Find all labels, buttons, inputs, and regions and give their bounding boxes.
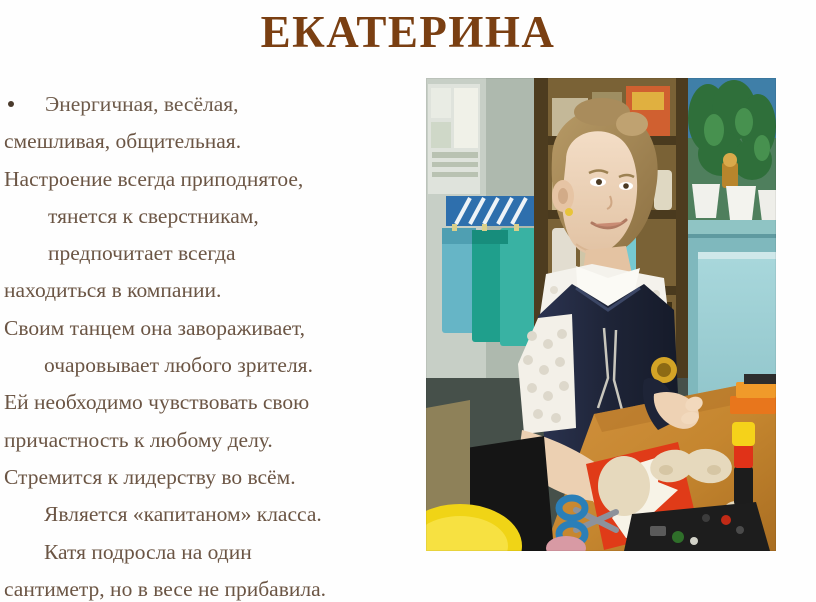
text-line: Стремится к лидерству во всём. [0,459,422,496]
text-line: смешливая, общительная. [0,123,422,160]
text-line: очаровывает любого зрителя. [0,347,422,384]
text-line: причастность к любому делу. [0,422,422,459]
text-line: Энергичная, весёлая, [0,86,239,123]
text-line: предпочитает всегда [0,235,422,272]
text-line: Настроение всегда приподнятое, [0,161,422,198]
striped-rack [446,196,536,226]
text-line: Ей необходимо чувствовать свою [0,384,422,421]
student-photo [426,78,776,551]
presentation-slide: ЕКАТЕРИНА Энергичная, весёлая, смешливая… [0,0,816,602]
text-line: Катя подросла на один [0,534,422,571]
page-title: ЕКАТЕРИНА [0,6,816,58]
glue-stick [732,422,755,506]
text-line: сантиметр, но в весе не прибавила. [0,571,422,602]
body-text-block: Энергичная, весёлая, смешливая, общитель… [0,86,422,602]
text-line: тянется к сверстникам, [0,198,422,235]
bullet-dot-icon [8,101,14,107]
text-line: Является «капитаном» класса. [0,496,422,533]
bullet-list-item: Энергичная, весёлая, [0,86,422,123]
text-line: находиться в компании. [0,272,422,309]
text-line: Своим танцем она завораживает, [0,310,422,347]
student-photo-illustration [426,78,776,551]
